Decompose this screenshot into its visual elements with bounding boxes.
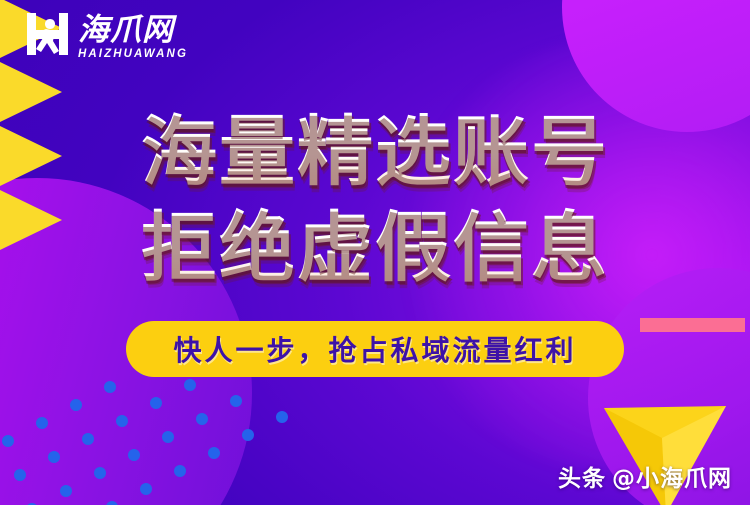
h-runner-logo-icon — [26, 10, 70, 58]
decor-pink-bar — [640, 318, 745, 332]
site-logo[interactable]: 海爪网 HAIZHUAWANG — [26, 10, 188, 61]
headline-line-1: 海量精选账号 — [0, 104, 750, 200]
cta-pill-label: 快人一步，抢占私域流量红利 — [173, 329, 576, 369]
logo-name-cn: 海爪网 — [78, 13, 188, 47]
watermark-handle: @小海爪网 — [612, 459, 732, 493]
watermark: 头条 @小海爪网 — [558, 459, 732, 493]
promo-banner: 海爪网 HAIZHUAWANG 海量精选账号 拒绝虚假信息 快人一步，抢占私域流… — [0, 0, 750, 505]
headline-line-2: 拒绝虚假信息 — [0, 200, 750, 296]
cta-pill-button[interactable]: 快人一步，抢占私域流量红利 — [126, 321, 624, 377]
watermark-platform: 头条 — [558, 459, 606, 493]
logo-name-en: HAIZHUAWANG — [78, 47, 188, 61]
headline-block: 海量精选账号 拒绝虚假信息 — [0, 104, 750, 296]
